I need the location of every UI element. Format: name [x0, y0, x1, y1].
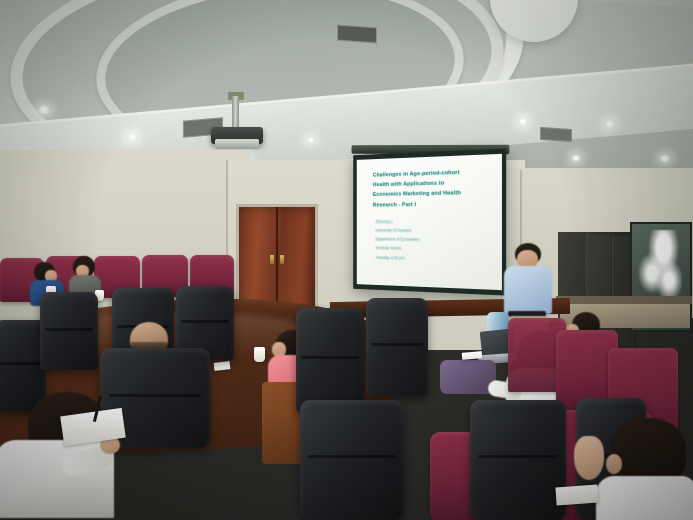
- conference-room-photo: Challenges in Age-period-cohort Health w…: [0, 0, 693, 520]
- chair-fg-right[interactable]: [470, 400, 566, 520]
- downlight-7: [660, 155, 670, 162]
- chair-back-left[interactable]: [40, 292, 98, 370]
- projector-mount-rod: [232, 96, 239, 129]
- presenter-shirt: [504, 266, 552, 314]
- door-handle-left[interactable]: [270, 255, 274, 264]
- wall-shelf: [556, 296, 692, 304]
- torso: [596, 476, 693, 520]
- downlight-6: [604, 120, 615, 128]
- notes: [555, 485, 598, 506]
- downlight-5: [518, 118, 528, 125]
- downlight-8: [572, 155, 580, 161]
- ceiling-vent: [540, 127, 572, 142]
- table-paper: [214, 361, 231, 371]
- projection-screen: Challenges in Age-period-cohort Health w…: [353, 148, 506, 295]
- paper-cup-table: [254, 347, 265, 362]
- door-handle-right[interactable]: [280, 255, 284, 264]
- slide-body-line: Tuesday 2:00 pm: [376, 253, 484, 265]
- projector-lens: [215, 139, 259, 149]
- downlight-2: [127, 133, 138, 141]
- screen-surface: Challenges in Age-period-cohort Health w…: [357, 154, 502, 290]
- ceiling-vent: [337, 25, 377, 44]
- slide-body-line: Zhiyong Li: [376, 217, 484, 227]
- chair-right-row-2[interactable]: [300, 400, 404, 520]
- downlight-1: [38, 106, 50, 114]
- chair-table-right[interactable]: [296, 308, 364, 412]
- slide-title-line: Research - Part I: [373, 199, 490, 211]
- slide-body: Zhiyong Li University of Houston Departm…: [376, 217, 484, 265]
- ear: [606, 454, 622, 474]
- window-glare: [636, 230, 682, 302]
- ceiling: [0, 0, 693, 175]
- downlight-4: [307, 137, 315, 143]
- slide-title: Challenges in Age-period-cohort Health w…: [373, 167, 490, 211]
- chair-right-row[interactable]: [366, 298, 428, 396]
- hand: [574, 436, 604, 480]
